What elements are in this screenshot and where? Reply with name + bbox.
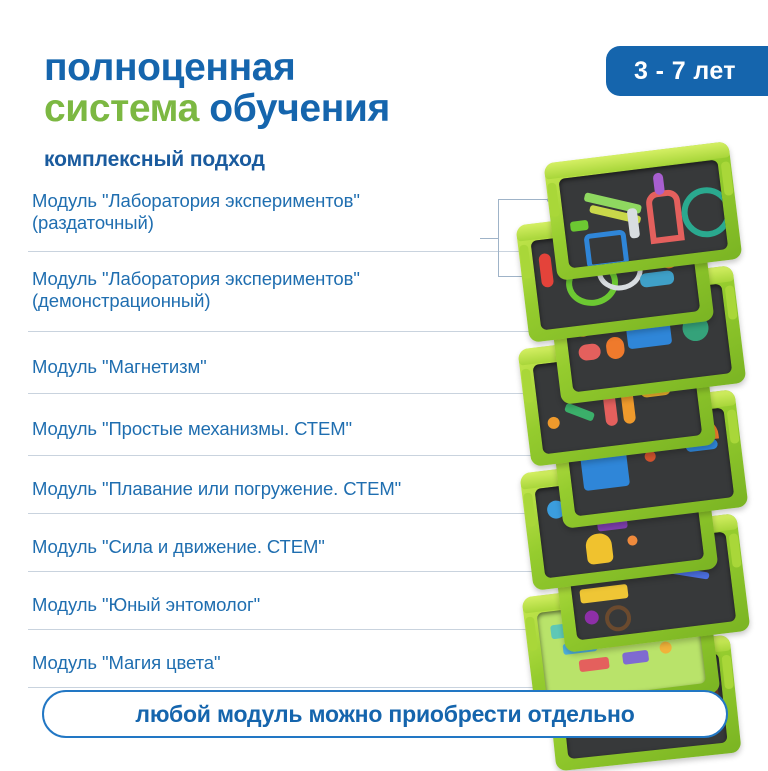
bracket-vertical-line — [498, 199, 499, 277]
list-item[interactable]: Модуль "Магия цвета" — [28, 630, 542, 688]
stacked-trays-illustration — [520, 152, 768, 712]
tool-piece — [578, 343, 602, 362]
tool-tongs — [645, 189, 685, 245]
tool-piece — [659, 641, 672, 654]
tool-piece — [622, 650, 649, 665]
tool-ball — [627, 535, 638, 546]
tool-ball — [584, 610, 600, 626]
tray-insert — [558, 160, 728, 269]
tray-handle-left — [519, 244, 532, 279]
tray-handle-right — [727, 409, 740, 444]
bracket-stub-line — [480, 238, 498, 239]
tool-piece — [579, 657, 610, 673]
list-item[interactable]: Модуль "Юный энтомолог" — [28, 572, 542, 630]
module-label: Модуль "Сила и движение. СТЕМ" — [32, 536, 325, 558]
headline-line-1: полноценная — [44, 48, 584, 89]
bottom-banner-text: любой модуль можно приобрести отдельно — [135, 701, 634, 728]
list-item[interactable]: Модуль "Сила и движение. СТЕМ" — [28, 514, 542, 572]
headline-word-sistema: система — [44, 87, 199, 130]
tray-handle-left — [521, 368, 534, 403]
tray-handle-right — [725, 285, 738, 320]
tray-handle-left — [523, 492, 536, 527]
tool-ruler — [579, 584, 628, 604]
tool-piece — [639, 270, 674, 288]
module-label: Модуль "Магнетизм" — [32, 356, 207, 378]
list-item[interactable]: Модуль "Простые механизмы. СТЕМ" — [28, 394, 542, 456]
tool-piece — [605, 336, 626, 360]
module-label: Модуль "Магия цвета" — [32, 652, 220, 674]
tool-ball — [547, 416, 560, 429]
tool-piece — [538, 253, 554, 288]
tool-magnifier-icon — [679, 184, 728, 240]
bottom-banner: любой модуль можно приобрести отдельно — [42, 690, 728, 738]
module-label: Модуль "Юный энтомолог" — [32, 594, 260, 616]
tool-piece — [570, 220, 589, 232]
tray-handle-right — [721, 655, 734, 690]
headline-line-2: система обучения — [44, 89, 584, 130]
tool-piece — [564, 403, 595, 422]
age-range-label: 3 - 7 лет — [634, 57, 736, 86]
list-item[interactable]: Модуль "Плавание или погружение. СТЕМ" — [28, 456, 542, 514]
tool-bulb — [584, 532, 613, 565]
list-item[interactable]: Модуль "Магнетизм" — [28, 332, 542, 394]
module-label: Модуль "Простые механизмы. СТЕМ" — [32, 418, 352, 440]
module-label: Модуль "Плавание или погружение. СТЕМ" — [32, 478, 401, 500]
tray-handle-left — [547, 182, 560, 217]
tool-piece — [653, 172, 666, 195]
tray-handle-left — [525, 616, 538, 651]
page-title: полноценная система обучения — [44, 48, 584, 129]
module-label: Модуль "Лаборатория экспериментов" (демо… — [32, 268, 360, 312]
age-range-badge: 3 - 7 лет — [606, 46, 768, 96]
module-list: Модуль "Лаборатория экспериментов" (разд… — [28, 186, 542, 688]
page-subtitle: комплексный подход — [44, 148, 265, 172]
tray-handle-right — [729, 533, 742, 568]
tool-ring — [604, 604, 633, 633]
tray-1 — [544, 141, 743, 281]
list-item[interactable]: Модуль "Лаборатория экспериментов" (разд… — [28, 186, 542, 252]
tray-handle-right — [721, 161, 734, 196]
headline-word-obucheniya: обучения — [209, 87, 390, 130]
module-label: Модуль "Лаборатория экспериментов" (разд… — [32, 190, 360, 234]
list-item[interactable]: Модуль "Лаборатория экспериментов" (демо… — [28, 252, 542, 332]
tool-magnifier — [583, 229, 629, 268]
